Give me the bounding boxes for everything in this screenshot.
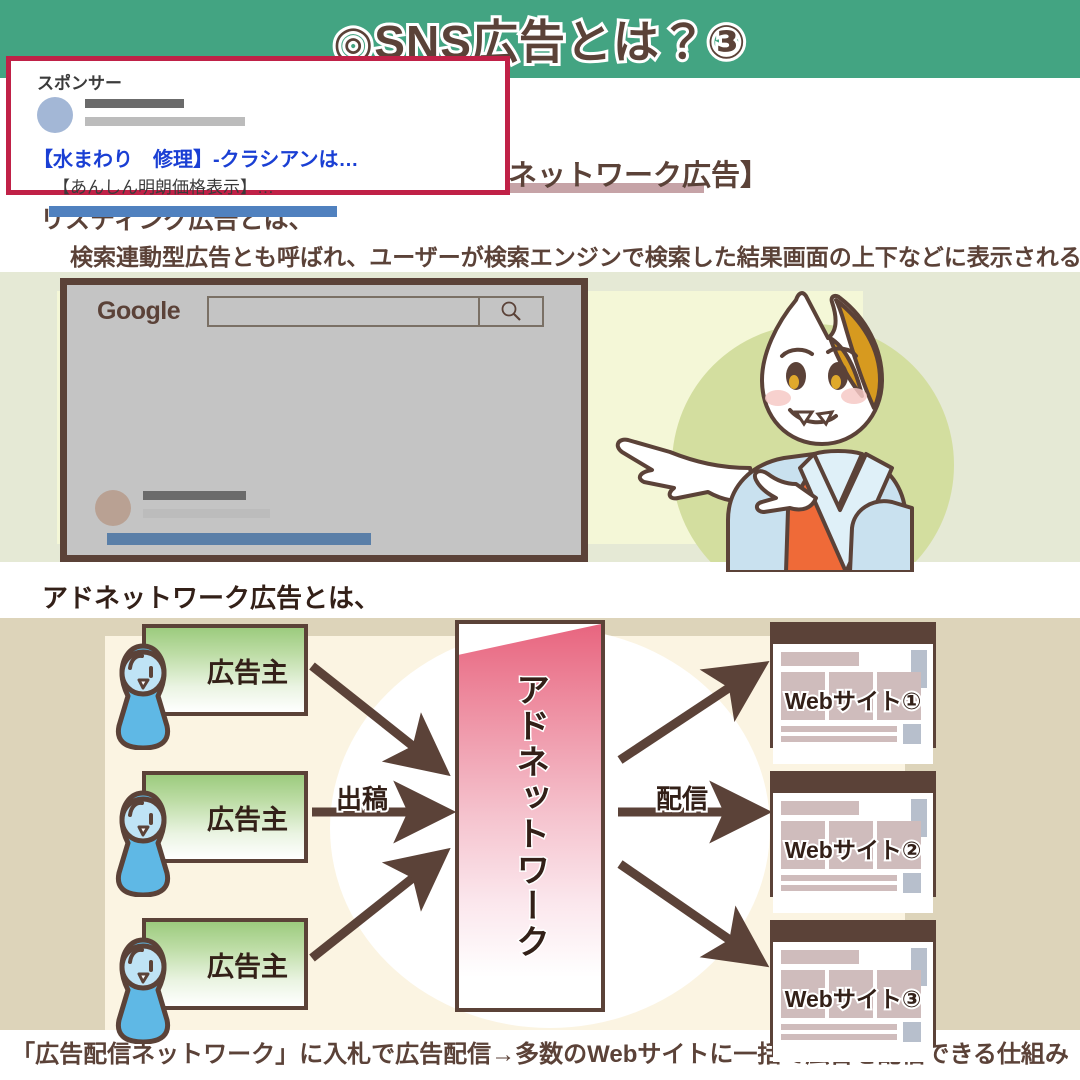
ad-placeholder-line — [85, 99, 184, 108]
search-button[interactable] — [480, 298, 542, 325]
sponsored-ad-content: スポンサー 【水まわり 修理】-クラシアンは… 【あんしん明朗価格表示】… — [11, 61, 505, 190]
result-line — [107, 533, 371, 545]
sponsor-label: スポンサー — [37, 69, 122, 94]
arrow-advertiser3-to-network — [312, 858, 438, 958]
search-field[interactable] — [209, 298, 480, 325]
arrow-label-submit: 出稿 — [336, 779, 388, 816]
browser-viewport: Google — [64, 282, 584, 558]
arrow-advertiser1-to-network — [312, 666, 438, 766]
result-line — [143, 509, 270, 518]
website-placeholder — [781, 1034, 897, 1040]
google-logo: Google — [97, 297, 180, 326]
advertiser-avatar — [37, 97, 73, 133]
sponsored-ad-highlight: スポンサー 【水まわり 修理】-クラシアンは… 【あんしん明朗価格表示】… — [6, 56, 510, 195]
arrow-network-to-website3 — [620, 864, 756, 958]
result-line — [335, 557, 369, 558]
diagram-arrows — [0, 618, 1080, 1030]
result-avatar-2 — [95, 490, 131, 526]
browser-mockup: Google — [60, 278, 588, 562]
listing-description: 検索連動型広告とも呼ばれ、ユーザーが検索エンジンで検索した結果画面の上下などに表… — [70, 238, 1080, 272]
slide-root: ◎SNS広告とは？③ ●WEB広告との違い① 【Web広告：リスティング広告、ア… — [0, 0, 1080, 1080]
arrow-label-deliver: 配信 — [656, 779, 708, 816]
ad-placeholder-line — [85, 117, 245, 126]
ad-placeholder-line — [49, 206, 337, 217]
result-line — [107, 557, 312, 558]
mascot-character-illustration — [600, 272, 1000, 572]
ad-title-link[interactable]: 【水まわり 修理】-クラシアンは… — [33, 143, 358, 172]
result-line — [143, 491, 246, 500]
magnifier-icon — [498, 299, 524, 325]
arrow-network-to-website1 — [620, 670, 756, 760]
search-input[interactable] — [207, 296, 544, 327]
ad-description: 【あんしん明朗価格表示】… — [53, 173, 274, 198]
adnetwork-lead: アドネットワーク広告とは、 — [42, 578, 380, 615]
